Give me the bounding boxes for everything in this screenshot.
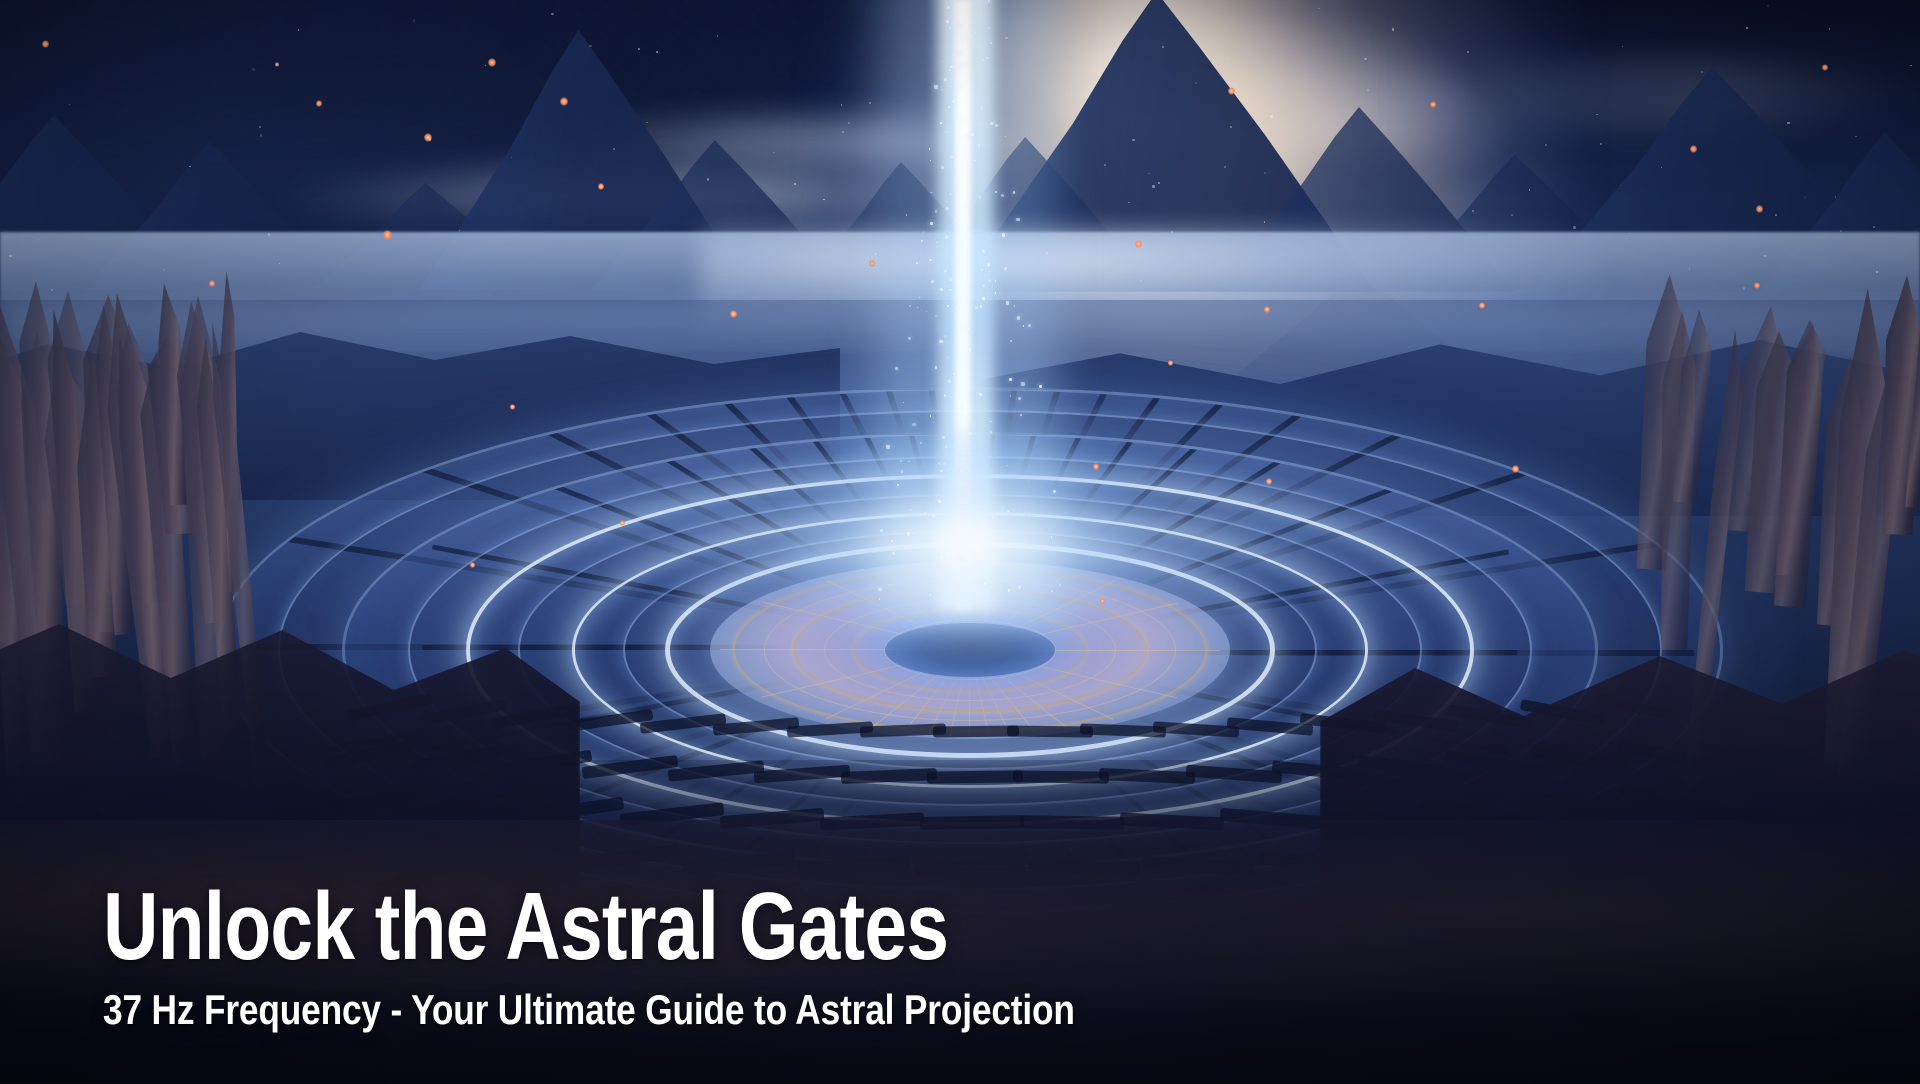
star <box>1596 114 1597 115</box>
star <box>1318 8 1319 9</box>
star <box>1511 214 1513 216</box>
star <box>1019 141 1020 142</box>
star <box>842 131 844 133</box>
star <box>869 102 871 104</box>
star <box>1264 172 1266 174</box>
star <box>906 214 908 216</box>
star <box>1855 136 1857 138</box>
star <box>659 52 660 53</box>
star <box>1364 58 1366 60</box>
star <box>1545 144 1547 146</box>
star <box>9 255 11 257</box>
star <box>1573 226 1576 229</box>
star <box>485 65 486 66</box>
star <box>1629 233 1631 235</box>
star <box>1787 122 1789 124</box>
star <box>875 253 877 255</box>
star <box>1701 71 1703 73</box>
ember-spark <box>470 562 475 568</box>
star <box>1128 202 1129 203</box>
star <box>1195 82 1197 84</box>
star <box>1743 287 1745 289</box>
star <box>1764 255 1766 257</box>
star <box>551 13 553 15</box>
star <box>298 29 300 31</box>
star <box>1162 46 1164 48</box>
star <box>1367 89 1369 91</box>
star <box>259 126 261 128</box>
ember-spark <box>1093 463 1099 470</box>
star <box>707 178 709 180</box>
star <box>1158 182 1160 184</box>
star <box>1835 196 1836 197</box>
star <box>646 122 647 123</box>
star <box>189 166 190 167</box>
star <box>589 45 591 47</box>
star <box>268 233 270 235</box>
star <box>163 269 165 271</box>
star <box>1065 60 1067 62</box>
star <box>1840 230 1842 232</box>
star <box>260 134 263 137</box>
page-title: Unlock the Astral Gates <box>103 880 1223 974</box>
star <box>413 19 415 21</box>
star <box>252 68 255 71</box>
star <box>1224 166 1226 168</box>
ember-spark <box>1100 598 1105 604</box>
star <box>717 35 719 37</box>
star <box>1775 214 1777 216</box>
star <box>1873 226 1875 228</box>
page-subtitle: 37 Hz Frequency - Your Ultimate Guide to… <box>103 988 1279 1032</box>
star <box>1104 164 1106 166</box>
star <box>1767 5 1769 7</box>
star <box>1264 221 1265 222</box>
star <box>1472 210 1474 212</box>
star <box>1910 65 1912 67</box>
star <box>1148 173 1149 174</box>
star <box>823 199 825 201</box>
star <box>1270 115 1272 117</box>
star <box>1600 143 1601 144</box>
star <box>1171 231 1173 233</box>
star <box>1876 271 1878 273</box>
star <box>1804 197 1806 199</box>
star <box>1622 46 1623 47</box>
star <box>638 48 640 50</box>
star <box>773 152 775 154</box>
ember-spark <box>1512 465 1519 473</box>
star <box>69 104 70 105</box>
star <box>1246 100 1247 101</box>
star <box>1620 185 1621 186</box>
star <box>1829 28 1831 30</box>
hero-text-block: Unlock the Astral Gates 37 Hz Frequency … <box>103 880 1503 1032</box>
star <box>1227 58 1228 59</box>
ember-spark <box>1266 478 1272 485</box>
star <box>1529 189 1531 191</box>
star <box>841 104 842 105</box>
star <box>956 257 957 258</box>
star <box>1005 136 1006 137</box>
star <box>848 122 850 124</box>
star <box>1392 28 1394 30</box>
ember-spark <box>620 520 625 526</box>
star <box>613 148 615 150</box>
star <box>279 263 280 264</box>
star <box>1132 139 1135 142</box>
star <box>1746 27 1748 29</box>
star <box>794 183 796 185</box>
star <box>1140 280 1143 283</box>
star <box>1230 126 1232 128</box>
star-field <box>0 0 1920 440</box>
star <box>51 289 53 291</box>
star <box>1467 51 1469 53</box>
star <box>511 157 512 158</box>
star <box>429 138 431 140</box>
star <box>1005 37 1007 39</box>
hero-banner: Unlock the Astral Gates 37 Hz Frequency … <box>0 0 1920 1084</box>
star <box>1046 252 1048 254</box>
star <box>1689 268 1691 270</box>
star <box>38 239 39 240</box>
star <box>459 230 460 231</box>
star <box>1661 167 1663 169</box>
star <box>1152 185 1154 187</box>
star <box>656 51 658 53</box>
